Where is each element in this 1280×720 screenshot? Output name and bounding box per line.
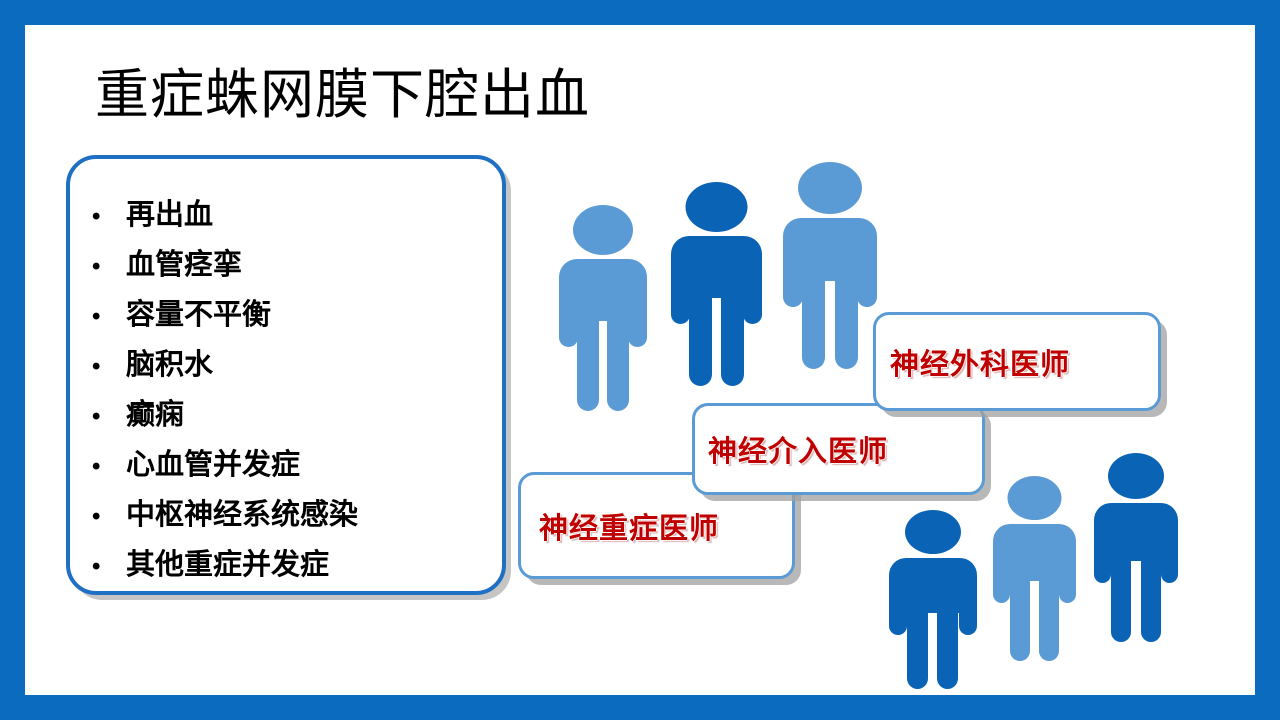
bullet-marker-icon: • bbox=[92, 542, 126, 591]
figure-light-1 bbox=[551, 203, 655, 411]
bullet-marker-icon: • bbox=[92, 192, 126, 241]
list-item: • 其他重症并发症 bbox=[92, 541, 492, 591]
complications-panel: • 再出血 • 血管痉挛 • 容量不平衡 • 脑积水 • 癫痫 • 心血管并发症 bbox=[66, 155, 506, 595]
bullet-marker-icon: • bbox=[92, 442, 126, 491]
list-item-label: 再出血 bbox=[126, 191, 492, 240]
callout-neurointervention-label: 神经介入医师 bbox=[695, 428, 888, 470]
complications-list: • 再出血 • 血管痉挛 • 容量不平衡 • 脑积水 • 癫痫 • 心血管并发症 bbox=[92, 191, 492, 591]
bullet-marker-icon: • bbox=[92, 492, 126, 541]
slide-frame-bottom bbox=[0, 695, 1280, 720]
list-item: • 再出血 bbox=[92, 191, 492, 241]
slide-title: 重症蛛网膜下腔出血 bbox=[95, 66, 590, 125]
figure-dark-3 bbox=[1087, 450, 1185, 642]
list-item-label: 癫痫 bbox=[126, 391, 492, 440]
figure-light-2 bbox=[775, 160, 885, 369]
slide-frame-right bbox=[1255, 0, 1280, 720]
list-item-label: 中枢神经系统感染 bbox=[126, 491, 492, 540]
slide-canvas: 重症蛛网膜下腔出血 bbox=[0, 0, 1280, 720]
callout-neurocritical-label: 神经重症医师 bbox=[521, 505, 719, 547]
bullet-marker-icon: • bbox=[92, 392, 126, 441]
list-item: • 中枢神经系统感染 bbox=[92, 491, 492, 541]
bullet-marker-icon: • bbox=[92, 242, 126, 291]
callout-neurointervention[interactable]: 神经介入医师 bbox=[692, 403, 985, 495]
slide-frame-left bbox=[0, 0, 25, 720]
figure-light-3 bbox=[986, 473, 1083, 661]
figure-dark-1 bbox=[663, 180, 770, 386]
bullet-marker-icon: • bbox=[92, 292, 126, 341]
slide-frame-top bbox=[0, 0, 1280, 25]
list-item: • 脑积水 bbox=[92, 341, 492, 391]
list-item-label: 其他重症并发症 bbox=[126, 541, 492, 590]
list-item-label: 心血管并发症 bbox=[126, 441, 492, 490]
figure-dark-2 bbox=[881, 508, 985, 689]
callout-neurosurgeon-label: 神经外科医师 bbox=[876, 341, 1070, 383]
bullet-marker-icon: • bbox=[92, 342, 126, 391]
list-item: • 血管痉挛 bbox=[92, 241, 492, 291]
list-item: • 癫痫 bbox=[92, 391, 492, 441]
list-item-label: 脑积水 bbox=[126, 341, 492, 390]
list-item: • 容量不平衡 bbox=[92, 291, 492, 341]
list-item: • 心血管并发症 bbox=[92, 441, 492, 491]
list-item-label: 血管痉挛 bbox=[126, 241, 492, 290]
callout-neurosurgeon[interactable]: 神经外科医师 bbox=[873, 312, 1161, 411]
list-item-label: 容量不平衡 bbox=[126, 291, 492, 340]
